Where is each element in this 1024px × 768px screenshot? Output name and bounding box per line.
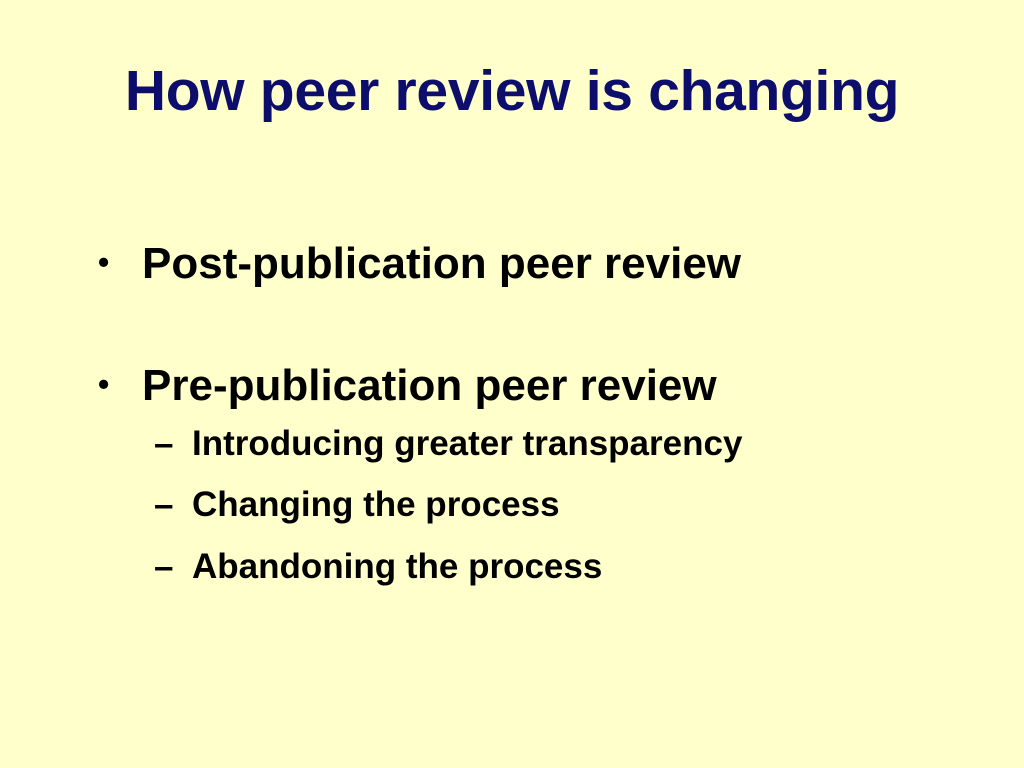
sub-list-item-label: Changing the process — [192, 485, 958, 526]
bullet-dot-icon: • — [98, 360, 142, 410]
sub-list-item-label: Introducing greater transparency — [192, 424, 958, 465]
sub-list-item: – Changing the process — [154, 485, 958, 526]
list-item-label: Pre-publication peer review — [142, 360, 958, 412]
slide-body: • Post-publication peer review • Pre-pub… — [98, 238, 958, 588]
bullet-dash-icon: – — [154, 485, 192, 526]
sub-list-item: – Introducing greater transparency — [154, 424, 958, 465]
page-title: How peer review is changing — [0, 62, 1024, 122]
slide-canvas: How peer review is changing • Post-publi… — [0, 0, 1024, 768]
list-item: • Post-publication peer review — [98, 238, 958, 290]
list-item-label: Post-publication peer review — [142, 238, 958, 290]
bullet-dash-icon: – — [154, 547, 192, 588]
sub-list-item: – Abandoning the process — [154, 547, 958, 588]
sub-list: – Introducing greater transparency – Cha… — [98, 424, 958, 588]
list-item: • Pre-publication peer review — [98, 360, 958, 412]
sub-list-item-label: Abandoning the process — [192, 547, 958, 588]
bullet-dash-icon: – — [154, 424, 192, 465]
bullet-dot-icon: • — [98, 238, 142, 288]
